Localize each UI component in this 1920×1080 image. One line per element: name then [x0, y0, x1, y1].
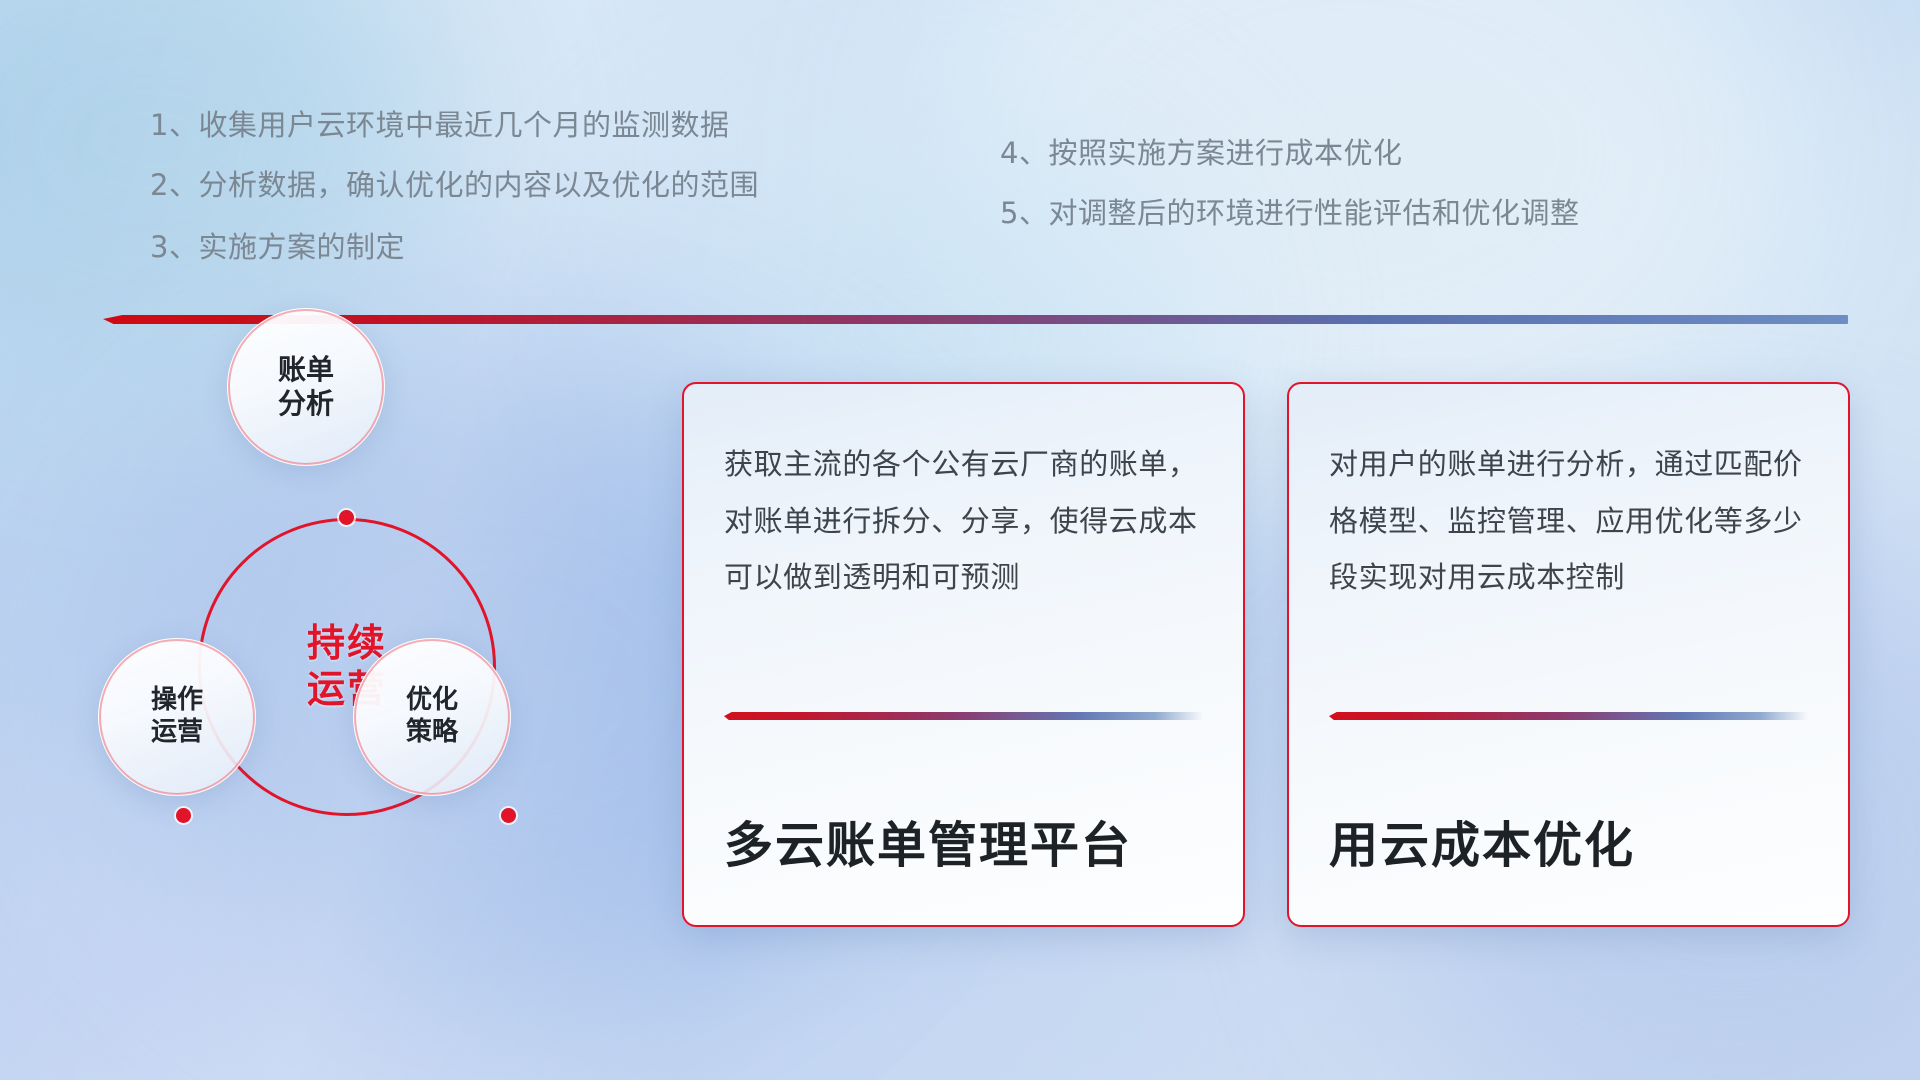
node-label-line-1: 操作: [151, 685, 203, 717]
card-title: 用云成本优化: [1329, 806, 1808, 877]
card-divider-rule: [724, 712, 1203, 720]
bullet-item-5: 5、对调整后的环境进行性能评估和优化调整: [1000, 190, 1579, 232]
card-cloud-cost-optimization[interactable]: 对用户的账单进行分析，通过匹配价格模型、监控管理、应用优化等多少段实现对用云成本…: [1287, 382, 1850, 927]
connector-dot-icon: [176, 808, 191, 823]
bullet-item-2: 2、分析数据，确认优化的内容以及优化的范围: [150, 162, 759, 204]
bullet-item-3: 3、实施方案的制定: [150, 224, 405, 266]
connector-dot-icon: [501, 808, 516, 823]
connector-dot-icon: [339, 510, 354, 525]
card-multi-cloud-billing[interactable]: 获取主流的各个公有云厂商的账单，对账单进行拆分、分享，使得云成本可以做到透明和可…: [682, 382, 1245, 927]
diagram-node-optimization-strategy[interactable]: 优化 策略: [353, 638, 511, 796]
card-divider-rule: [1329, 712, 1808, 720]
node-label-line-1: 账单: [278, 353, 334, 387]
card-title: 多云账单管理平台: [724, 806, 1203, 877]
node-label-line-2: 策略: [406, 717, 458, 749]
header-divider-rule: [103, 315, 1848, 324]
bullet-item-1: 1、收集用户云环境中最近几个月的监测数据: [150, 102, 729, 144]
diagram-node-operations[interactable]: 操作 运营: [98, 638, 256, 796]
card-body-text: 对用户的账单进行分析，通过匹配价格模型、监控管理、应用优化等多少段实现对用云成本…: [1329, 436, 1808, 686]
bullet-list: 1、收集用户云环境中最近几个月的监测数据 2、分析数据，确认优化的内容以及优化的…: [0, 92, 1920, 272]
node-label-line-2: 运营: [151, 717, 203, 749]
continuous-operations-diagram: 持续 运营 账单 分析 操作 运营 优化 策略: [100, 350, 570, 950]
slide-root: 1、收集用户云环境中最近几个月的监测数据 2、分析数据，确认优化的内容以及优化的…: [0, 0, 1920, 1080]
center-label-line-1: 持续: [307, 621, 387, 667]
node-label-line-2: 分析: [278, 387, 334, 421]
diagram-node-billing-analysis[interactable]: 账单 分析: [227, 308, 385, 466]
node-label-line-1: 优化: [406, 685, 458, 717]
bullet-item-4: 4、按照实施方案进行成本优化: [1000, 130, 1402, 172]
card-body-text: 获取主流的各个公有云厂商的账单，对账单进行拆分、分享，使得云成本可以做到透明和可…: [724, 436, 1203, 686]
